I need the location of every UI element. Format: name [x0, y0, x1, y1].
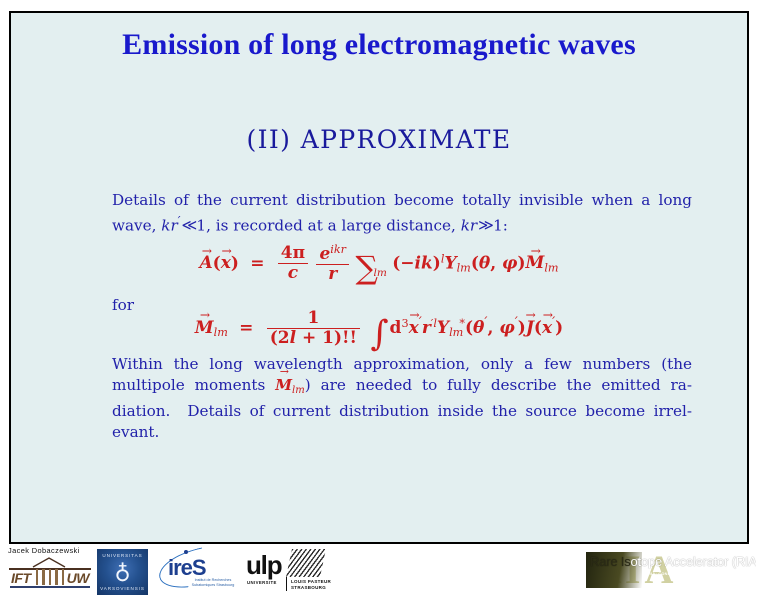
paragraph-two: Within the long wavelength approximation…	[112, 354, 692, 443]
equation-two: M→lm = 1(2l + 1)!! ∫d3x→′r′lYlm*(θ′, φ′)…	[11, 309, 747, 348]
ulp-logo: ulp UNIVERSITE LOUIS PASTEUR STRASBOURG	[246, 549, 334, 594]
author-block: Jacek Dobaczewski IFT UW	[8, 546, 94, 590]
ift-label: IFT	[11, 570, 31, 586]
ulp-label: ulp	[246, 552, 281, 578]
ulp-louis-pasteur-label: LOUIS PASTEUR STRASBOURG	[291, 579, 334, 590]
ires-logo: ireS Institut de Recherches Subatomiques…	[158, 549, 242, 594]
ria-title-light-part: otope Accelerator (RIA)	[631, 554, 756, 569]
math-inline-kr: kr	[461, 216, 477, 234]
ires-subtitle: Institut de Recherches Subatomiques Stra…	[184, 578, 242, 587]
slide-root: Emission of long electromagnetic waves (…	[0, 0, 763, 597]
roof-icon	[32, 557, 66, 568]
uw-label: UW	[67, 570, 89, 586]
equation-one: A→(x→) = 4πc eikrr ∑lm (−ik)lYlm(θ, φ)M→…	[11, 244, 747, 284]
slide-title: Emission of long electromagnetic waves	[11, 28, 747, 62]
ria-title: Rare Isotope Accelerator (RIA)	[590, 554, 756, 569]
paragraph-one: Details of the current distribution beco…	[112, 190, 692, 236]
ift-uw-logo: IFT UW	[8, 556, 92, 590]
author-name: Jacek Dobaczewski	[8, 546, 94, 555]
ria-logo: RIA Rare Isotope Accelerator (RIA) RIA: …	[586, 552, 756, 588]
ria-subtitle: RIA: CONNECTING NUCLEI with the UNIVERSE	[648, 571, 746, 576]
slide-frame: Emission of long electromagnetic waves (…	[9, 11, 749, 544]
math-inline-kr-prime: kr	[161, 216, 177, 234]
columns-icon	[36, 569, 64, 585]
ulp-universite-label: UNIVERSITE	[247, 580, 277, 585]
striped-flag-icon	[286, 549, 326, 577]
warsaw-university-crest: UNIVERSITAS ♁ VARSOVIENSIS	[97, 549, 148, 595]
eagle-icon: ♁	[114, 561, 130, 583]
ria-title-dark-part: Rare Is	[590, 554, 631, 569]
ulp-divider	[286, 577, 287, 591]
logo-underline	[10, 586, 90, 588]
crest-ring-top-label: UNIVERSITAS	[97, 553, 148, 558]
orbit-dot-icon	[184, 550, 188, 554]
inline-multipole-moment: M→lm	[275, 376, 305, 394]
slide-subtitle: (II) APPROXIMATE	[11, 125, 747, 154]
crest-ring-bottom-label: VARSOVIENSIS	[97, 586, 148, 591]
